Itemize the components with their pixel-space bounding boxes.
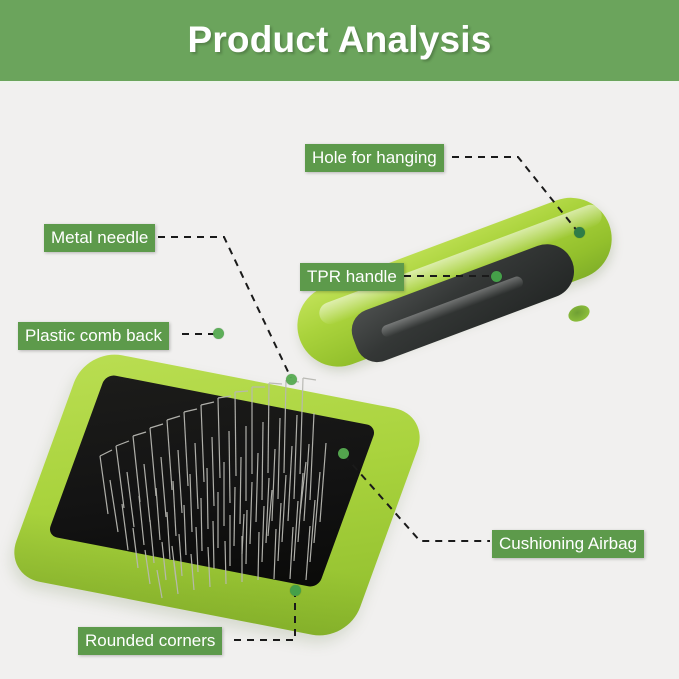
page-title: Product Analysis (187, 21, 491, 60)
callout-label-cushioning-airbag: Cushioning Airbag (492, 530, 644, 558)
marker-plastic-comb-back (213, 328, 224, 339)
marker-metal-needle (286, 374, 297, 385)
callout-label-tpr-handle: TPR handle (300, 263, 404, 291)
marker-hole-for-hanging (574, 227, 585, 238)
callout-label-plastic-comb-back: Plastic comb back (18, 322, 169, 350)
product-photo (0, 84, 679, 679)
header-banner: Product Analysis (0, 0, 679, 81)
marker-cushioning-airbag (338, 448, 349, 459)
slicker-brush-illustration (0, 84, 679, 679)
hanging-hole (566, 302, 592, 324)
marker-tpr-handle (491, 271, 502, 282)
marker-rounded-corners (290, 585, 301, 596)
product-analysis-infographic: Product Analysis (0, 0, 679, 679)
callout-label-hole-for-hanging: Hole for hanging (305, 144, 444, 172)
callout-label-rounded-corners: Rounded corners (78, 627, 222, 655)
callout-label-metal-needle: Metal needle (44, 224, 155, 252)
